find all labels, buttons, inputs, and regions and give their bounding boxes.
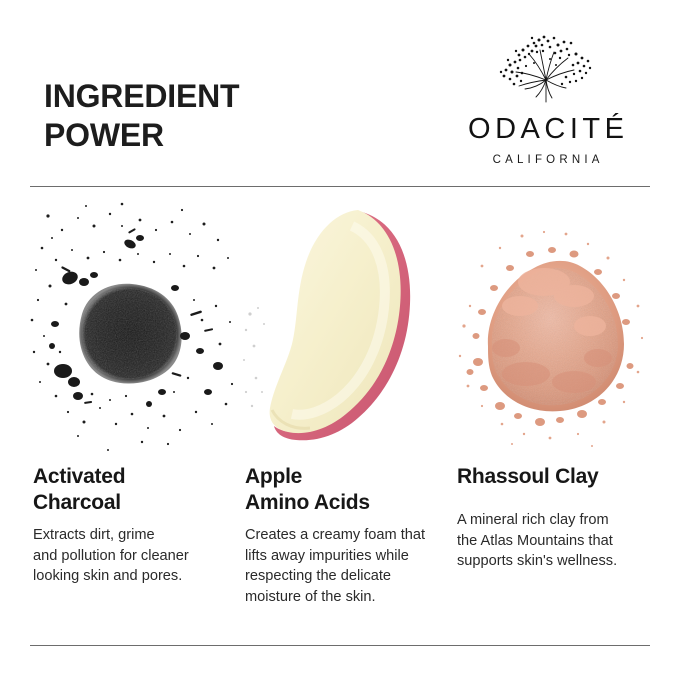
ingredient-description: A mineral rich clay from the Atlas Mount… (448, 490, 660, 572)
brand-region: CALIFORNIA (440, 153, 652, 167)
ingredient-column: Activated Charcoal Extracts dirt, grime … (22, 196, 240, 636)
ingredient-column: Apple Amino Acids Creates a creamy foam … (240, 196, 454, 636)
ingredient-description: Extracts dirt, grime and pollution for c… (22, 516, 240, 587)
charcoal-art (22, 196, 240, 464)
dandelion-umbel-flower-icon (492, 32, 600, 106)
apple-slice-image (240, 196, 454, 464)
brand-name: ODACITÉ (440, 112, 652, 146)
header: INGREDIENT POWER (0, 0, 679, 186)
ingredient-column: Rhassoul Clay A mineral rich clay from t… (448, 196, 660, 636)
ingredient-title: Activated Charcoal (22, 464, 240, 516)
brand-logo: ODACITÉ CALIFORNIA (440, 32, 652, 167)
rhassoul-clay-powder-image (448, 196, 660, 464)
apple-art (240, 196, 454, 464)
divider-top (30, 186, 650, 187)
activated-charcoal-powder-splatter-image (22, 196, 240, 464)
page-title: INGREDIENT POWER (44, 77, 374, 155)
ingredient-title: Apple Amino Acids (240, 464, 454, 516)
ingredient-power-infographic: INGREDIENT POWER (0, 0, 679, 679)
divider-bottom (30, 645, 650, 646)
ingredient-description: Creates a creamy foam that lifts away im… (240, 516, 454, 607)
ingredient-title: Rhassoul Clay (448, 464, 660, 490)
ingredient-columns: Activated Charcoal Extracts dirt, grime … (0, 196, 679, 636)
clay-art (448, 196, 660, 464)
